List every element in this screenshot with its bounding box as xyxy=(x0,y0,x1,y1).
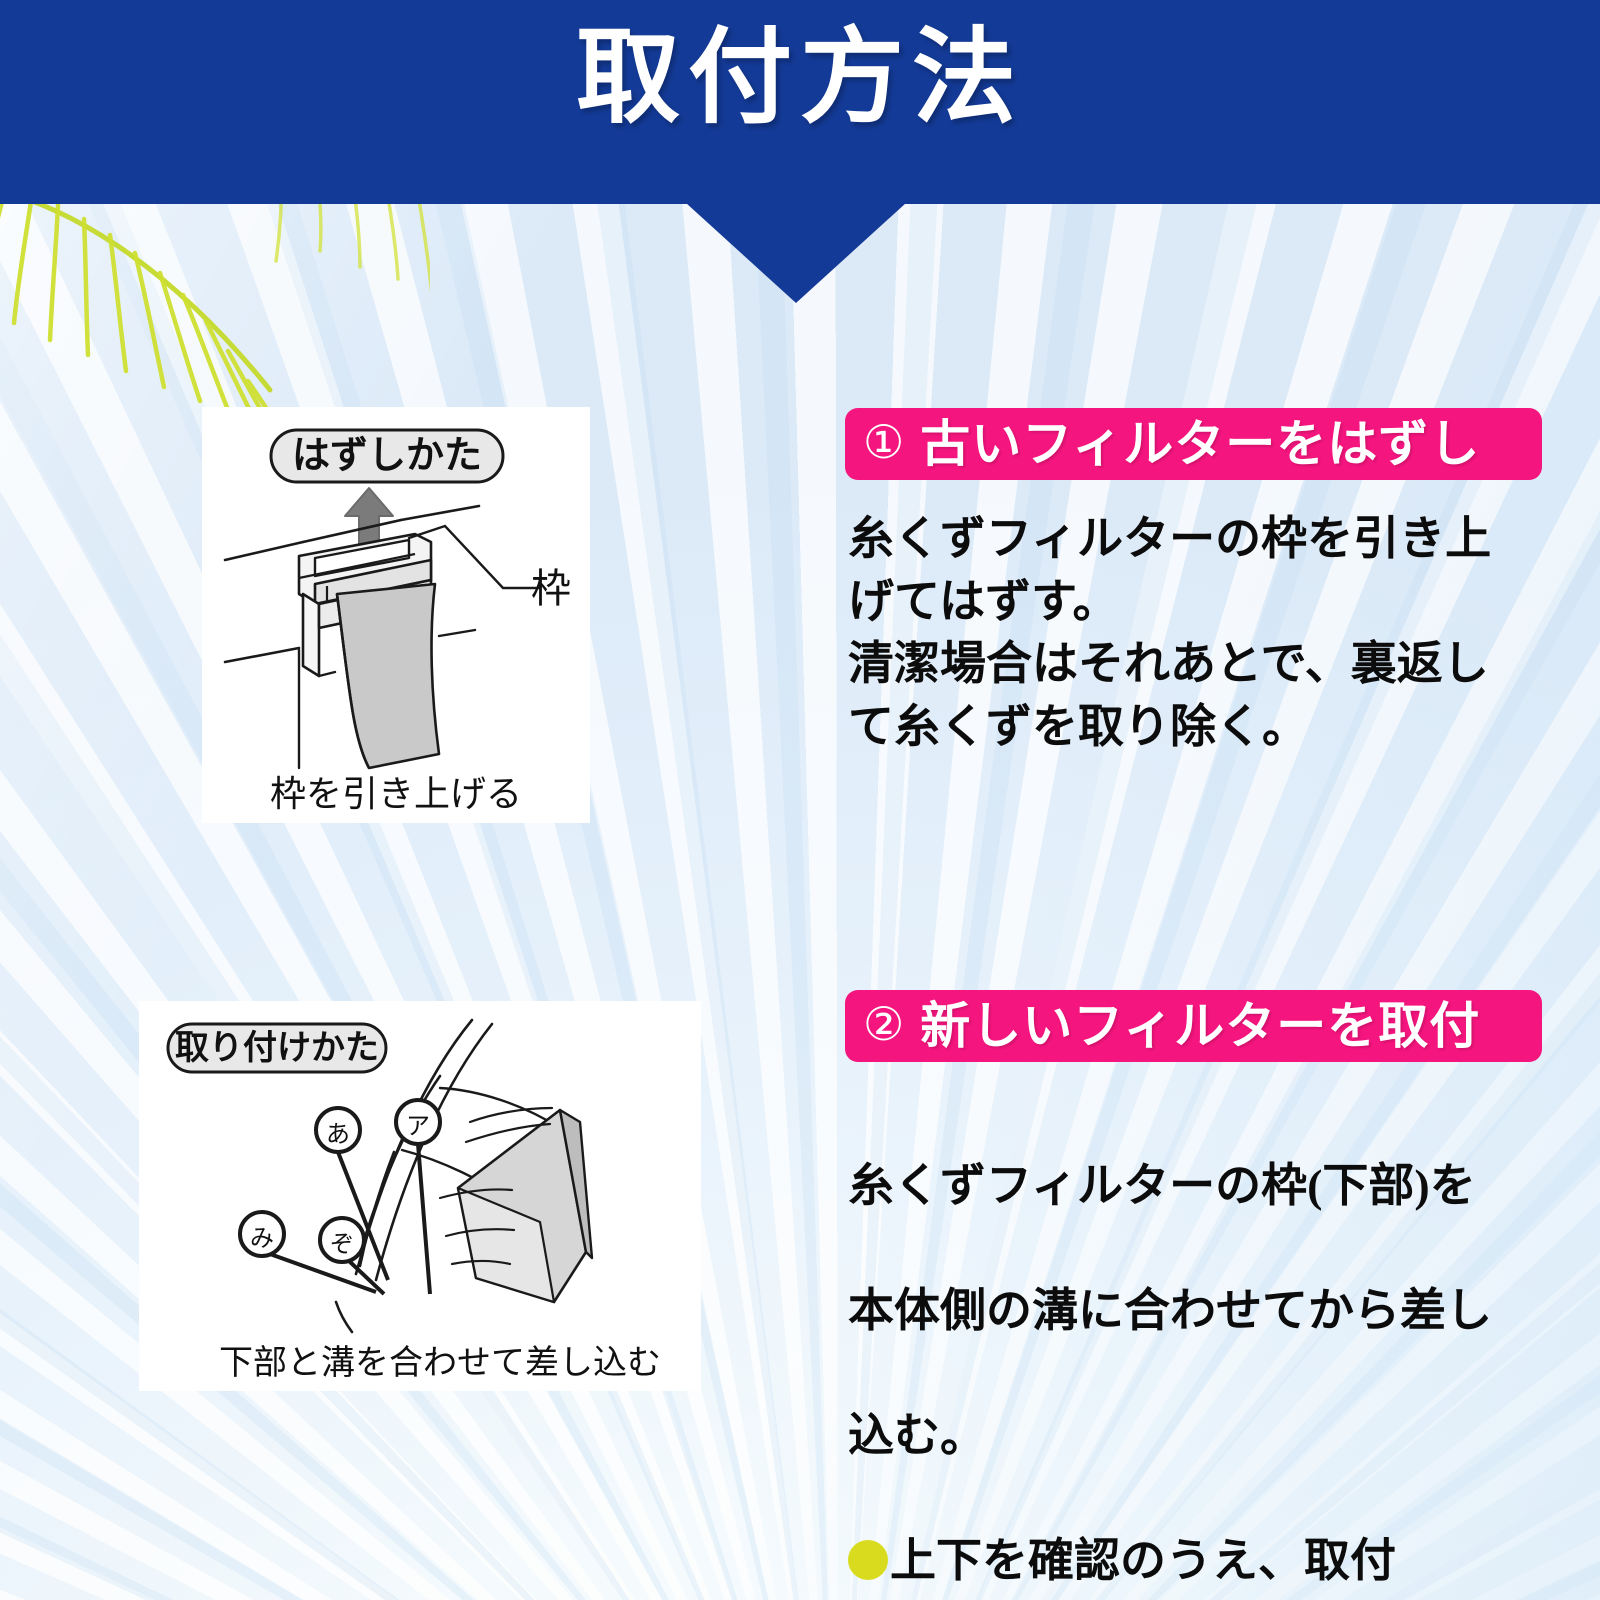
pill-label-hazushikata: はずしかた xyxy=(271,430,503,482)
callout-mark-3-label: み xyxy=(250,1225,274,1252)
header-banner: 取付方法 xyxy=(0,0,1600,204)
callout-label-waku: 枠 xyxy=(531,567,571,611)
step-2-heading: 新しいフィルターを取付 xyxy=(920,1001,1480,1051)
step-1-number: ① xyxy=(863,419,904,465)
step-2-illustration-card: 取り付けかた xyxy=(140,1002,700,1390)
header-pointer-triangle xyxy=(686,203,906,303)
step-2-body-line-3: 込む。 xyxy=(848,1405,1548,1468)
step-2-number: ② xyxy=(863,1001,904,1047)
page-title: 取付方法 xyxy=(0,26,1600,130)
pill-label-text: 取り付けかた xyxy=(175,1029,379,1067)
callout-mark-4-label: ぞ xyxy=(330,1231,354,1258)
step-1-banner: ① 古いフィルターをはずし xyxy=(845,408,1542,480)
pill-label-text: はずしかた xyxy=(292,435,482,477)
step-2-note-text-1: 上下を確認のうえ、取付 xyxy=(890,1535,1396,1586)
step-2-body-text: 糸くずフィルターの枠(下部)を 本体側の溝に合わせてから差し 込む。 上下を確認… xyxy=(848,1092,1548,1600)
step-2-body-line-1: 糸くずフィルターの枠(下部)を xyxy=(848,1155,1548,1218)
step-2-note-line-1: 上下を確認のうえ、取付 xyxy=(848,1530,1548,1593)
remove-filter-diagram: はずしかた xyxy=(203,408,589,822)
step-2-body-line-2: 本体側の溝に合わせてから差し xyxy=(848,1280,1548,1343)
callout-mark-2-label: ア xyxy=(406,1113,430,1140)
diagram-caption: 下部と溝を合わせて差し込む xyxy=(219,1344,661,1382)
pill-label-toritsukekata: 取り付けかた xyxy=(168,1024,386,1072)
diagram-caption: 枠を引き上げる xyxy=(270,773,522,814)
step-1-illustration-card: はずしかた xyxy=(203,408,589,822)
step-1-heading: 古いフィルターをはずし xyxy=(920,419,1480,469)
yellow-bullet-icon xyxy=(848,1540,888,1580)
install-filter-diagram: 取り付けかた xyxy=(140,1002,700,1390)
step-2-banner: ② 新しいフィルターを取付 xyxy=(845,990,1542,1062)
step-1-body-text: 糸くずフィルターの枠を引き上 げてはずす。 清潔場合はそれあとで、裏返し て糸く… xyxy=(848,508,1548,758)
callout-mark-1-label: あ xyxy=(326,1121,350,1148)
promo-page: 取付方法 はずしかた xyxy=(0,0,1600,1600)
